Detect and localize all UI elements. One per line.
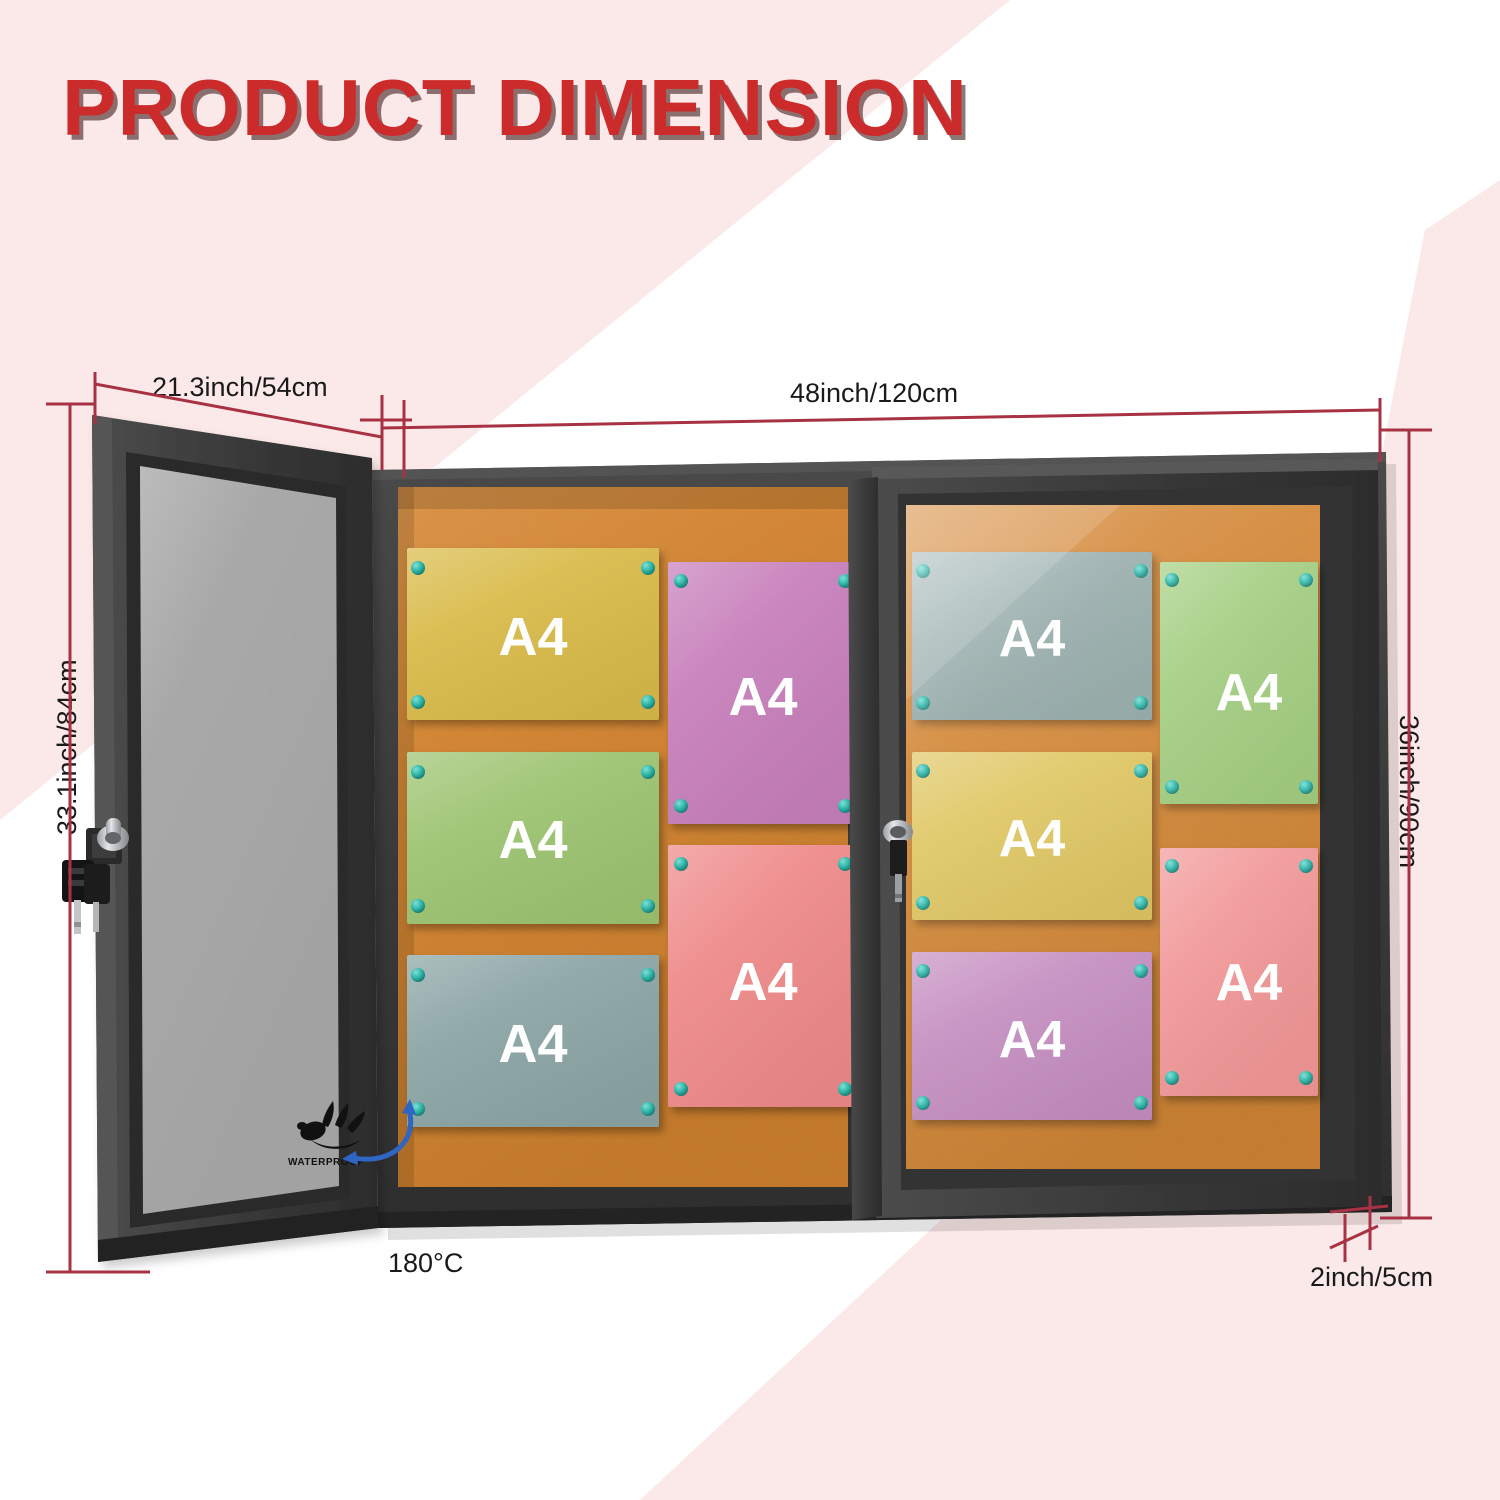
splash-wave	[310, 1139, 360, 1149]
frame-depth-top-line	[1330, 1206, 1388, 1212]
waterproof-arrow	[350, 1107, 411, 1159]
droplet-2	[335, 1103, 348, 1128]
droplet-small	[297, 1122, 307, 1130]
waterproof-annotation: WATERPROOF	[280, 1095, 450, 1185]
waterproof-icon	[297, 1101, 365, 1149]
width-dimension-line	[382, 410, 1380, 428]
droplet-3	[347, 1111, 365, 1133]
dimension-overlay	[0, 0, 1500, 1500]
arrow-head-up	[402, 1099, 416, 1115]
droplet-1	[322, 1101, 334, 1127]
depth-dimension-line	[95, 384, 382, 437]
